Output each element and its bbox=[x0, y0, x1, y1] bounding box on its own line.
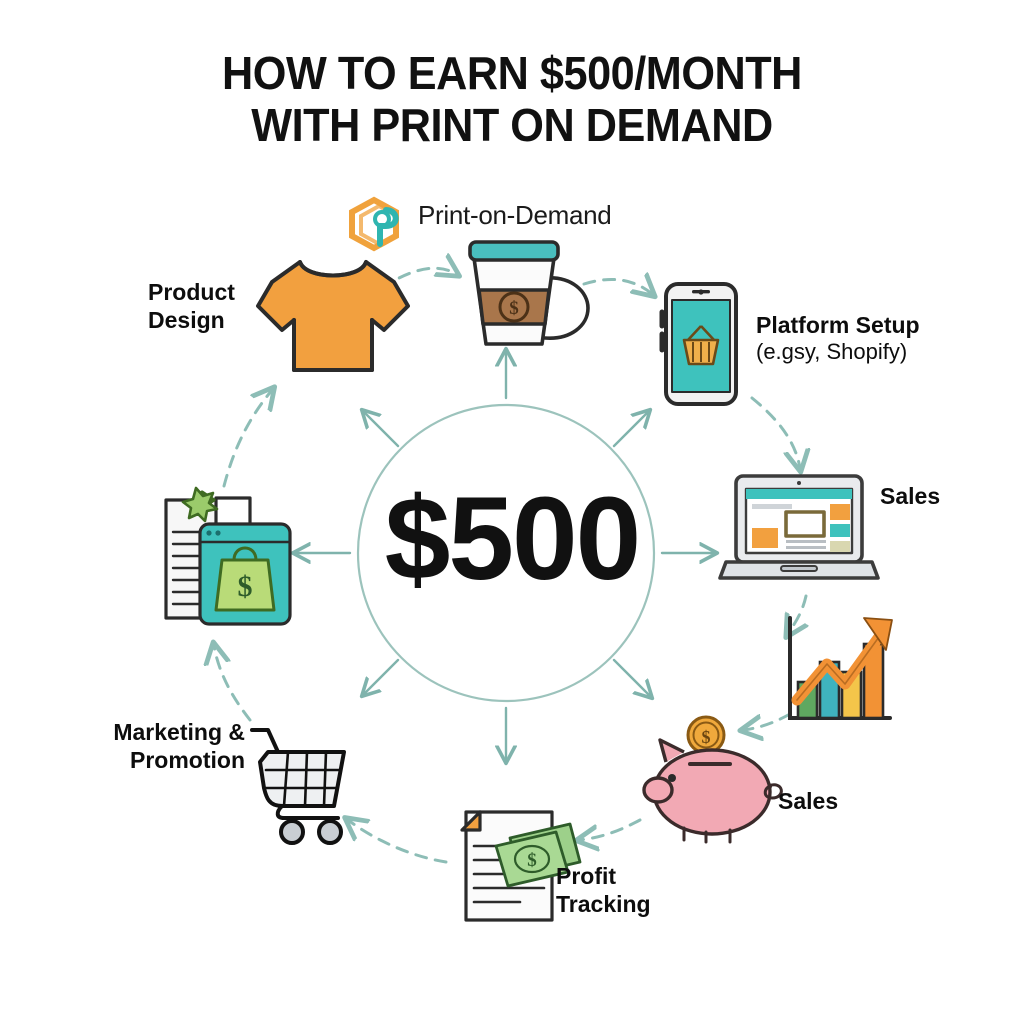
center-amount: $500 bbox=[312, 480, 712, 598]
node-label-product-design: Product Design bbox=[148, 278, 235, 334]
platform-setup-subtitle: (e.gsy, Shopify) bbox=[756, 339, 920, 366]
node-label-marketing: Marketing & Promotion bbox=[80, 718, 245, 774]
svg-text:$: $ bbox=[509, 298, 519, 319]
shopping-cart-icon bbox=[252, 730, 344, 843]
svg-text:$: $ bbox=[702, 727, 711, 747]
tshirt-icon bbox=[258, 262, 408, 370]
phone-shopping-basket-icon bbox=[662, 284, 736, 404]
node-label-sales-piggy: Sales bbox=[778, 787, 838, 815]
svg-text:$: $ bbox=[238, 570, 253, 603]
growth-bar-chart-icon bbox=[790, 618, 892, 718]
platform-setup-title: Platform Setup bbox=[756, 312, 920, 338]
laptop-storefront-icon bbox=[720, 476, 878, 578]
browser-shopping-bag-icon: $ bbox=[166, 488, 290, 624]
node-label-platform-setup: Platform Setup (e.gsy, Shopify) bbox=[756, 283, 920, 394]
hexagon-p-logo-icon bbox=[352, 200, 397, 248]
brand-wordmark: Print-on-Demand bbox=[418, 200, 611, 231]
node-label-sales-laptop: Sales bbox=[880, 482, 940, 510]
node-label-profit-tracking: Profit Tracking bbox=[556, 862, 651, 918]
infographic-canvas: HOW TO EARN $500/MONTH WITH PRINT ON DEM… bbox=[0, 0, 1024, 1024]
piggy-bank-coin-icon: $ bbox=[644, 717, 781, 842]
coffee-mug-dollar-icon: $ bbox=[470, 242, 588, 344]
svg-text:$: $ bbox=[527, 850, 537, 871]
